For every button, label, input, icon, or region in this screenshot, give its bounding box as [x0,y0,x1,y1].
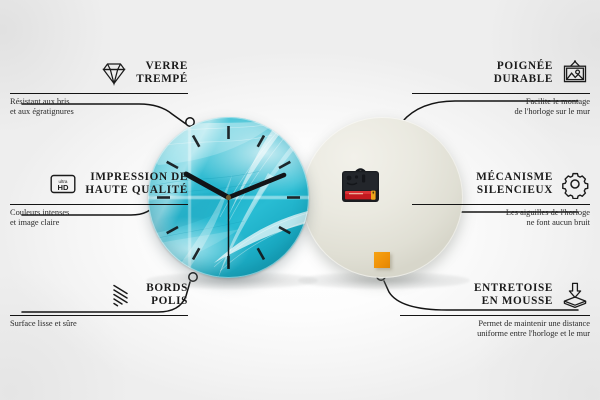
feature-header: ultra HD IMPRESSION DE HAUTE QUALITÉ [10,167,188,201]
feature-header: MÉCANISME SILENCIEUX [412,167,590,201]
feature-entretoise-en-mousse: ENTRETOISE EN MOUSSE Permet de maintenir… [400,278,590,340]
picture-hanger-icon [560,58,590,88]
feature-subtitle: Surface lisse et sûre [10,319,188,329]
feature-subtitle: Couleurs intenses et image claire [10,208,188,229]
feature-divider [400,315,590,316]
svg-text:HD: HD [58,183,69,192]
feature-verre-trempe: VERRE TREMPÉ Résistant aux bris et aux é… [10,56,188,118]
feature-header: ENTRETOISE EN MOUSSE [400,278,590,312]
polished-edges-icon [109,280,139,310]
gear-icon [560,169,590,199]
feature-subtitle: Les aiguilles de l'horloge ne font aucun… [412,208,590,229]
feature-title: MÉCANISME SILENCIEUX [476,171,553,198]
feature-subtitle: Permet de maintenir une distance uniform… [400,319,590,340]
feature-title: POIGNÉE DURABLE [494,60,553,87]
foam-spacer-icon [560,280,590,310]
feature-bords-polis: BORDS POLIS Surface lisse et sûre [10,278,188,329]
foam-spacer-pad [374,252,390,268]
diamond-icon [99,58,129,88]
infographic-canvas: VERRE TREMPÉ Résistant aux bris et aux é… [0,0,600,400]
feature-header: POIGNÉE DURABLE [412,56,590,90]
feature-subtitle: Facilite le montage de l'horloge sur le … [412,97,590,118]
feature-impression-haute-qualite: ultra HD IMPRESSION DE HAUTE QUALITÉ Cou… [10,167,188,229]
feature-divider [10,204,188,205]
feature-title: ENTRETOISE EN MOUSSE [474,282,553,309]
feature-divider [10,93,188,94]
feature-header: BORDS POLIS [10,278,188,312]
ultra-hd-icon: ultra HD [48,169,78,199]
feature-divider [412,204,590,205]
feature-divider [10,315,188,316]
feature-subtitle: Résistant aux bris et aux égratignures [10,97,188,118]
feature-title: IMPRESSION DE HAUTE QUALITÉ [85,171,188,198]
feature-poignee-durable: POIGNÉE DURABLE Facilite le montage de l… [412,56,590,118]
feature-title: VERRE TREMPÉ [136,60,188,87]
feature-divider [412,93,590,94]
feature-header: VERRE TREMPÉ [10,56,188,90]
feature-mecanisme-silencieux: MÉCANISME SILENCIEUX Les aiguilles de l'… [412,167,590,229]
feature-title: BORDS POLIS [146,282,188,309]
clock-mechanism [340,166,381,204]
